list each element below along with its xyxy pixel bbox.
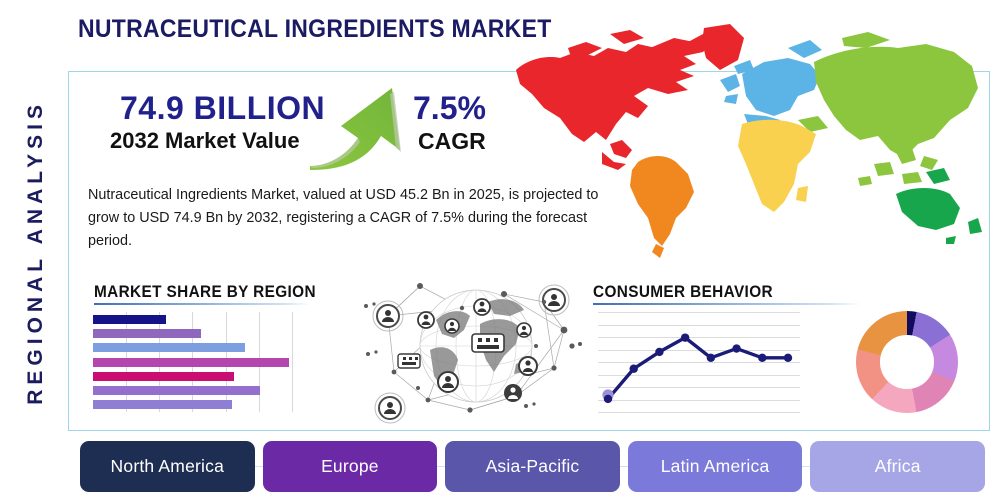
line-chart-series [598,312,800,412]
consumer-behavior-line-chart [598,312,800,412]
growth-arrow-icon [308,82,412,170]
market-value-figure: 74.9 BILLION [120,90,325,127]
line-chart-marker [707,354,715,362]
bar-chart-row [93,386,325,395]
consumer-behavior-underline [593,303,861,305]
line-chart-marker [784,354,792,362]
regional-distribution-donut-chart [856,311,958,413]
network-node-user-icon [418,312,434,328]
consumer-behavior-section-title: CONSUMER BEHAVIOR [593,283,773,302]
bar-chart-row [93,329,325,338]
region-button-north-america[interactable]: North America [80,441,255,492]
line-chart-marker [758,354,766,362]
bar-chart-bar [93,372,234,381]
global-network-globe-icon [358,268,590,428]
bar-chart-bar [93,386,260,395]
network-node-user-icon [517,323,531,337]
bar-chart-row [93,358,325,367]
map-region-africa [738,120,816,212]
bar-chart-bar [93,343,245,352]
map-region-south-america [630,156,694,258]
network-node-user-icon [373,301,403,331]
cagr-figure: 7.5% [413,90,486,127]
line-chart-marker [681,333,689,341]
map-region-asia [798,32,978,186]
bar-chart-row [93,372,325,381]
network-node-user-icon [474,299,490,315]
line-chart-marker [732,344,740,352]
bar-chart-row [93,400,325,409]
map-region-greenland [702,24,744,70]
network-node-user-icon [504,384,522,402]
network-building-icon [472,334,504,352]
region-button-label: Africa [875,456,921,477]
region-button-europe[interactable]: Europe [263,441,438,492]
market-share-bar-chart [93,312,325,412]
line-chart-gridline [598,412,800,413]
network-node-user-icon [445,319,459,333]
line-chart-marker [604,395,612,403]
region-button-label: Latin America [661,456,770,477]
network-node-user-icon [375,393,405,423]
market-value-caption: 2032 Market Value [110,128,300,154]
world-map-icon [498,12,990,270]
region-button-label: Asia-Pacific [486,456,580,477]
cagr-caption: CAGR [418,128,486,155]
network-node-user-icon [438,372,458,392]
kpi-summary-row: 74.9 BILLION 2032 Market Value 7.5% CAGR [110,90,510,170]
network-node-user-icon [519,357,537,375]
region-button-label: Europe [321,456,379,477]
page-title: NUTRACEUTICAL INGREDIENTS MARKET [78,15,552,44]
bar-chart-row [93,315,325,324]
bar-chart-bar [93,329,201,338]
region-button-africa[interactable]: Africa [810,441,985,492]
region-button-bar: North AmericaEuropeAsia-PacificLatin Ame… [80,441,985,492]
side-label-text: REGIONAL ANALYSIS [24,100,48,405]
bar-chart-bar [93,358,289,367]
network-building-icon [398,354,420,368]
bar-chart-bar [93,315,166,324]
region-button-label: North America [111,456,224,477]
map-region-north-america [516,30,716,170]
regional-analysis-side-label: REGIONAL ANALYSIS [14,52,58,452]
line-chart-marker [630,365,638,373]
market-share-underline [94,303,310,305]
region-button-asia-pacific[interactable]: Asia-Pacific [445,441,620,492]
donut-center-hole [880,335,933,388]
line-chart-marker [655,348,663,356]
bar-chart-row [93,343,325,352]
market-share-section-title: MARKET SHARE BY REGION [94,283,316,302]
region-button-latin-america[interactable]: Latin America [628,441,803,492]
bar-chart-bar [93,400,232,409]
